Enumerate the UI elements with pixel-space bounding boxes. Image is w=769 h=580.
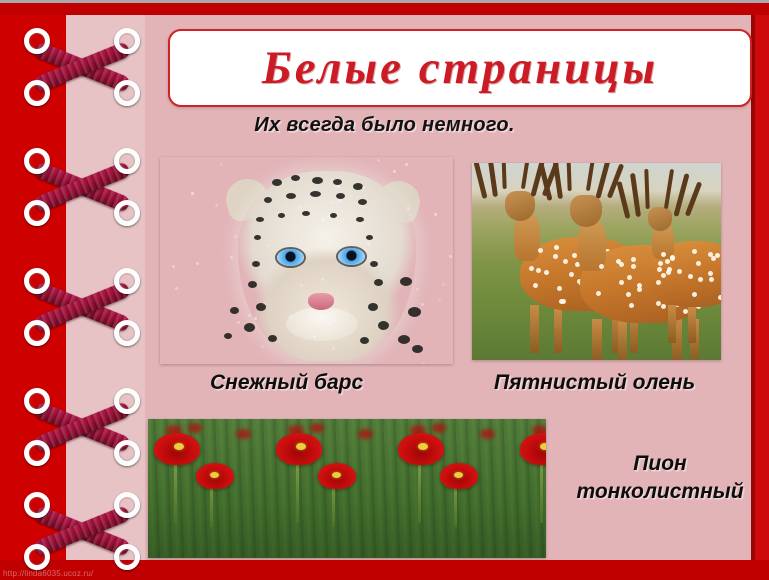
- top-red-band: [0, 3, 769, 15]
- leopard-rosette: [268, 335, 277, 342]
- deer-antler: [685, 181, 703, 216]
- snow-speck: [393, 170, 396, 173]
- deer-spot: [619, 280, 624, 285]
- snow-leopard-photo: [160, 157, 453, 364]
- eyelet-icon: [24, 440, 50, 466]
- snow-speck: [442, 283, 445, 286]
- leopard-rosette: [256, 217, 264, 222]
- lace-cross-5: [24, 492, 140, 570]
- peony-center: [418, 443, 428, 450]
- leopard-rosette: [412, 345, 423, 353]
- eyelet-icon: [114, 148, 140, 174]
- peony-tile: [270, 419, 392, 558]
- background-bud: [188, 423, 202, 433]
- snow-speck: [362, 186, 365, 189]
- snow-speck: [367, 242, 370, 245]
- caption-snow-leopard: Снежный барс: [210, 371, 363, 395]
- leopard-rosette: [374, 279, 383, 286]
- deer-leg: [668, 305, 676, 343]
- leopard-rosette: [302, 211, 310, 216]
- deer-spot: [561, 299, 566, 304]
- deer-spot: [656, 280, 661, 285]
- peony-tile: [392, 419, 514, 558]
- snow-speck: [328, 322, 331, 325]
- deer-spot: [665, 259, 670, 264]
- deer-spot: [715, 253, 720, 258]
- eyelet-icon: [24, 492, 50, 518]
- deer-spot: [629, 303, 634, 308]
- eyelet-icon: [114, 492, 140, 518]
- snow-speck: [234, 235, 237, 238]
- deer-spot: [692, 292, 697, 297]
- deer-spot: [616, 259, 621, 264]
- deer-spot: [627, 275, 632, 280]
- peony-center: [174, 443, 184, 450]
- snow-speck: [407, 207, 410, 210]
- eyelet-icon: [24, 148, 50, 174]
- leopard-rosette: [254, 235, 261, 240]
- leopard-rosette: [252, 261, 260, 267]
- caption-peony-line1: Пион: [633, 452, 686, 475]
- deer-spot: [696, 261, 701, 266]
- leopard-rosette: [358, 199, 367, 205]
- eyelet-icon: [24, 200, 50, 226]
- leopard-rosette: [291, 175, 300, 181]
- deer-spot: [661, 273, 666, 278]
- eyelet-icon: [24, 320, 50, 346]
- deer-leg: [618, 321, 627, 360]
- red-peony-photo: [148, 419, 546, 558]
- leopard-rosette: [368, 303, 378, 311]
- background-bud: [432, 423, 446, 433]
- snow-speck: [289, 315, 292, 318]
- leopard-rosette: [378, 321, 389, 330]
- source-watermark: http://linda6035.ucoz.ru/: [3, 569, 93, 578]
- leopard-rosette: [312, 177, 323, 184]
- snow-speck: [248, 314, 251, 317]
- peony-tile: [148, 419, 270, 558]
- deer-spot: [563, 259, 568, 264]
- deer-antler: [473, 163, 487, 199]
- deer-spot: [544, 270, 549, 275]
- background-bud: [236, 429, 251, 439]
- deer-spot: [599, 264, 604, 269]
- snow-speck: [313, 335, 316, 338]
- leopard-rosette: [356, 217, 364, 222]
- leopard-rosette: [366, 235, 373, 240]
- deer-antler: [501, 163, 506, 189]
- snow-speck: [172, 265, 175, 268]
- deer-antler: [616, 181, 630, 219]
- deer-spot: [657, 267, 662, 272]
- leopard-nose: [308, 293, 334, 310]
- deer-spot: [554, 245, 559, 250]
- deer-leg: [530, 305, 539, 353]
- snow-speck: [332, 347, 335, 350]
- peony-center: [454, 472, 463, 478]
- leopard-rosette: [224, 333, 232, 339]
- eyelet-icon: [24, 388, 50, 414]
- snow-speck: [230, 256, 233, 259]
- snow-speck: [261, 345, 264, 348]
- deer-spot: [698, 277, 703, 282]
- eyelet-icon: [24, 28, 50, 54]
- eyelet-icon: [24, 268, 50, 294]
- eyelet-icon: [114, 320, 140, 346]
- leopard-rosette: [398, 335, 410, 344]
- snow-speck: [422, 362, 425, 364]
- leopard-rosette: [370, 261, 378, 267]
- presentation-slide: Белые страницы Их всегда было немного. С…: [0, 0, 769, 580]
- leopard-rosette: [400, 277, 412, 286]
- background-bud: [358, 429, 373, 439]
- deer-spot: [536, 268, 541, 273]
- deer-antler: [586, 163, 596, 191]
- deer-spot: [656, 301, 661, 306]
- eyelet-icon: [114, 544, 140, 570]
- deer-spot: [709, 277, 714, 282]
- lace-cross-1: [24, 28, 140, 106]
- deer-spot: [637, 287, 642, 292]
- title-box: Белые страницы: [168, 29, 752, 107]
- background-bud: [310, 423, 324, 433]
- leopard-eye-left: [277, 249, 304, 266]
- snow-speck: [191, 192, 194, 195]
- deer-head: [570, 195, 602, 227]
- snow-speck: [330, 201, 333, 204]
- leopard-rosette: [310, 191, 321, 197]
- snow-speck: [322, 218, 325, 221]
- leopard-rosette: [336, 193, 345, 199]
- deer-spot: [569, 272, 574, 277]
- deer-spot: [661, 304, 666, 309]
- snow-speck: [337, 185, 340, 188]
- snow-speck: [377, 159, 380, 162]
- deer-spot: [596, 291, 601, 296]
- snow-speck: [267, 244, 270, 247]
- snow-speck: [220, 163, 223, 166]
- deer-antler: [552, 163, 563, 199]
- leopard-rosette: [248, 281, 257, 288]
- leopard-rosette: [278, 213, 285, 218]
- deer-spot: [553, 254, 558, 259]
- caption-peony: Пион тонколистный: [565, 450, 755, 506]
- snow-speck: [175, 287, 178, 290]
- eyelet-icon: [114, 28, 140, 54]
- spotted-deer-photo: [472, 163, 721, 360]
- background-bud: [480, 429, 495, 439]
- eyelet-icon: [114, 440, 140, 466]
- leopard-rosette: [264, 197, 272, 203]
- leopard-rosette: [230, 307, 239, 314]
- snow-speck: [421, 303, 424, 306]
- deer-leg: [688, 307, 696, 343]
- lace-cross-2: [24, 148, 140, 226]
- leopard-rosette: [408, 307, 421, 317]
- peony-center: [332, 472, 341, 478]
- deer-spot: [631, 264, 636, 269]
- snow-speck: [300, 284, 303, 287]
- snow-speck: [405, 163, 408, 166]
- peony-center: [540, 443, 546, 450]
- lace-cross-4: [24, 388, 140, 466]
- deer-spot: [677, 269, 682, 274]
- eyelet-icon: [114, 80, 140, 106]
- caption-peony-line2: тонколистный: [576, 480, 743, 503]
- leopard-rosette: [330, 213, 337, 218]
- subtitle-text: Их всегда было немного.: [0, 114, 769, 137]
- deer-spot: [572, 253, 577, 258]
- deer-spot: [688, 274, 693, 279]
- snow-speck: [321, 278, 324, 281]
- deer-spot: [631, 257, 636, 262]
- leopard-rosette: [244, 323, 255, 332]
- deer-spot: [626, 292, 631, 297]
- deer-spot: [658, 261, 663, 266]
- snow-speck: [196, 262, 199, 265]
- deer-spot: [557, 286, 562, 291]
- page-title: Белые страницы: [262, 41, 658, 95]
- deer-spot: [670, 256, 675, 261]
- deer-spot: [538, 248, 543, 253]
- deer-antler: [644, 169, 649, 209]
- deer-spot: [708, 271, 713, 276]
- caption-spotted-deer: Пятнистый олень: [494, 371, 695, 395]
- snow-speck: [438, 299, 441, 302]
- snow-speck: [254, 317, 257, 320]
- snow-speck: [327, 215, 330, 218]
- deer-spot: [529, 266, 534, 271]
- right-red-band: [755, 15, 769, 560]
- peony-center: [296, 443, 306, 450]
- eyelet-icon: [114, 200, 140, 226]
- deer-spot: [667, 267, 672, 272]
- lace-cross-3: [24, 268, 140, 346]
- deer-leg: [554, 309, 562, 353]
- eyelet-icon: [24, 544, 50, 570]
- snow-speck: [416, 288, 419, 291]
- snow-speck: [449, 255, 452, 258]
- snow-speck: [215, 204, 218, 207]
- deer-spot: [661, 252, 666, 257]
- snow-speck: [263, 302, 266, 305]
- leopard-rosette: [360, 337, 369, 344]
- deer-head: [648, 207, 672, 231]
- snow-speck: [338, 199, 341, 202]
- eyelet-icon: [24, 80, 50, 106]
- snow-speck: [237, 321, 240, 324]
- peony-center: [210, 472, 219, 478]
- deer-antler: [521, 163, 531, 189]
- deer-spot: [692, 249, 697, 254]
- deer-spot: [533, 283, 538, 288]
- peony-tile: [514, 419, 546, 558]
- deer-antler: [630, 173, 641, 217]
- deer-spot: [708, 252, 713, 257]
- eyelet-icon: [114, 388, 140, 414]
- deer-spot: [718, 295, 721, 300]
- snow-speck: [303, 337, 306, 340]
- leopard-rosette: [286, 193, 296, 199]
- snow-speck: [298, 206, 301, 209]
- deer-antler: [664, 169, 674, 209]
- leopard-rosette: [272, 179, 282, 186]
- deer-antler: [487, 163, 498, 197]
- leopard-eye-right: [338, 248, 365, 265]
- snow-speck: [434, 213, 437, 216]
- leopard-muzzle: [286, 307, 358, 341]
- deer-leg: [592, 319, 602, 360]
- eyelet-icon: [114, 268, 140, 294]
- deer-antler: [566, 163, 571, 191]
